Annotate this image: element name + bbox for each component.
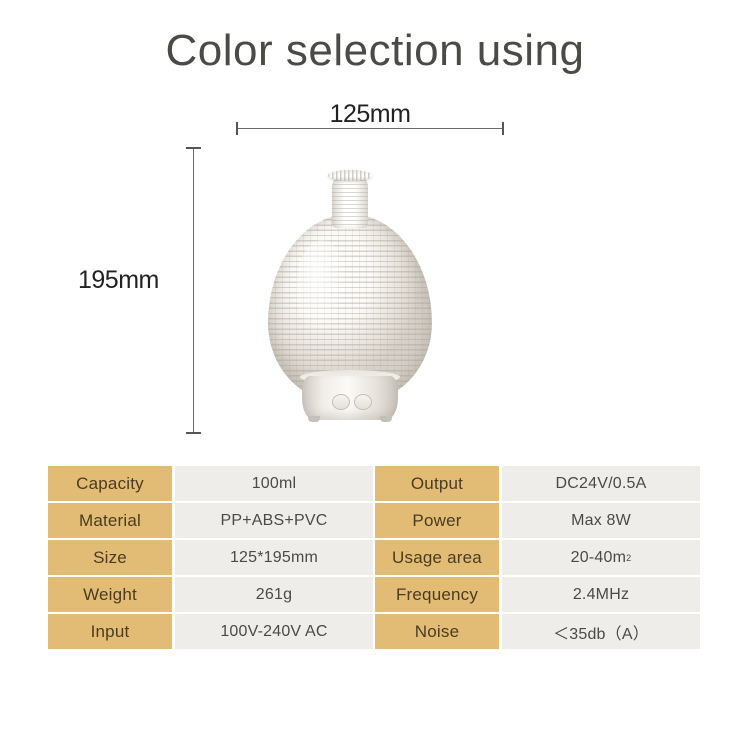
table-row: Noise ＜35db（A）: [375, 614, 700, 649]
spec-value-text: 20-40m: [571, 549, 626, 567]
height-dimension-tick-bottom: [186, 432, 201, 434]
spec-label: Input: [48, 614, 172, 649]
diffuser-light-button: [354, 394, 372, 410]
table-row: Power Max 8W: [375, 503, 700, 538]
spec-value: 100ml: [175, 466, 373, 501]
spec-value: PP+ABS+PVC: [175, 503, 373, 538]
table-row: Weight 261g: [48, 577, 373, 612]
height-dimension-tick-top: [186, 147, 201, 149]
width-dimension-tick-right: [502, 122, 504, 135]
width-dimension-label: 125mm: [236, 100, 504, 129]
diffuser-power-button: [332, 394, 350, 410]
spec-value: Max 8W: [502, 503, 700, 538]
specification-tables: Capacity 100ml Material PP+ABS+PVC Size …: [48, 466, 700, 649]
spec-label: Noise: [375, 614, 499, 649]
table-row: Usage area 20-40m2: [375, 540, 700, 575]
spec-value: ＜35db（A）: [502, 614, 700, 649]
height-dimension-line: [193, 148, 194, 434]
table-row: Frequency 2.4MHz: [375, 577, 700, 612]
width-dimension-tick-left: [236, 122, 238, 135]
spec-label: Output: [375, 466, 499, 501]
specification-table-right: Output DC24V/0.5A Power Max 8W Usage are…: [375, 466, 700, 649]
spec-label: Capacity: [48, 466, 172, 501]
table-row: Capacity 100ml: [48, 466, 373, 501]
spec-label: Material: [48, 503, 172, 538]
spec-value: DC24V/0.5A: [502, 466, 700, 501]
diffuser-foot-left: [308, 416, 320, 422]
spec-value: 125*195mm: [175, 540, 373, 575]
specification-table-left: Capacity 100ml Material PP+ABS+PVC Size …: [48, 466, 373, 649]
spec-label: Usage area: [375, 540, 499, 575]
table-row: Size 125*195mm: [48, 540, 373, 575]
diffuser-foot-right: [380, 416, 392, 422]
table-row: Output DC24V/0.5A: [375, 466, 700, 501]
diffuser-rim: [328, 170, 372, 181]
spec-value: 261g: [175, 577, 373, 612]
spec-label: Size: [48, 540, 172, 575]
diffuser-base: [302, 376, 398, 420]
spec-value: 20-40m2: [502, 540, 700, 575]
spec-label: Frequency: [375, 577, 499, 612]
product-image-diffuser: [262, 170, 438, 435]
table-row: Material PP+ABS+PVC: [48, 503, 373, 538]
spec-label: Weight: [48, 577, 172, 612]
spec-label: Power: [375, 503, 499, 538]
table-row: Input 100V-240V AC: [48, 614, 373, 649]
page-title: Color selection using: [0, 26, 750, 76]
spec-value: 2.4MHz: [502, 577, 700, 612]
spec-value: 100V-240V AC: [175, 614, 373, 649]
width-dimension-line: [236, 128, 504, 129]
height-dimension-label: 195mm: [78, 266, 159, 295]
